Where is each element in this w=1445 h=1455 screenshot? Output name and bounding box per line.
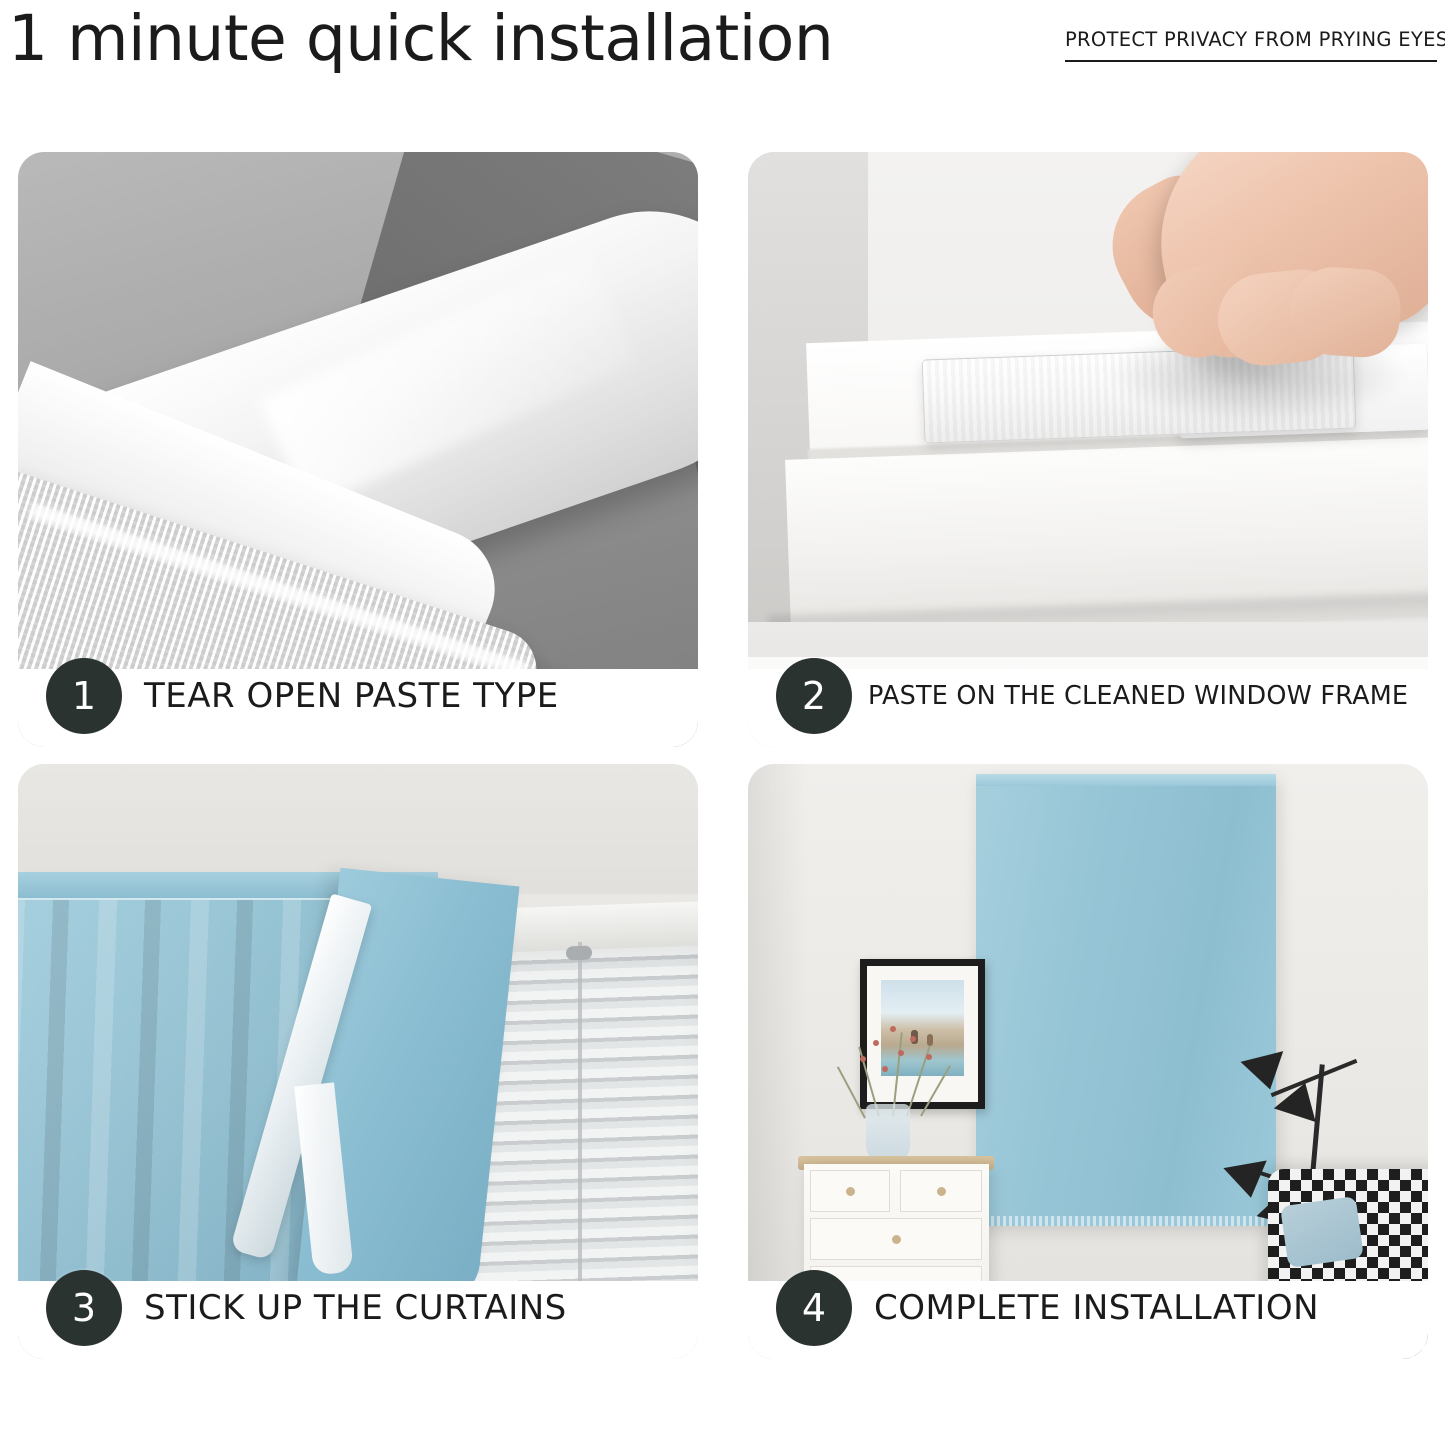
- step-card-3: 3 STICK UP THE CURTAINS: [18, 764, 698, 1359]
- steps-grid: 1 TEAR OPEN PASTE TYPE: [18, 152, 1428, 1442]
- page-title: 1 minute quick installation: [8, 2, 833, 75]
- step-2-number-badge: 2: [776, 658, 852, 734]
- step-4-caption-row: 4 COMPLETE INSTALLATION: [748, 1253, 1428, 1359]
- page-header: 1 minute quick installation PROTECT PRIV…: [0, 0, 1445, 150]
- step-1-number-badge: 1: [46, 658, 122, 734]
- glass-vase: [866, 1104, 910, 1162]
- tagline-text: PROTECT PRIVACY FROM PRYING EYES: [1065, 28, 1437, 60]
- tagline-block: PROTECT PRIVACY FROM PRYING EYES: [1065, 28, 1437, 62]
- dried-flowers: [840, 1014, 950, 1114]
- step-2-caption: PASTE ON THE CLEANED WINDOW FRAME: [868, 681, 1408, 711]
- step-4-number-badge: 4: [776, 1270, 852, 1346]
- step-1-caption-row: 1 TEAR OPEN PASTE TYPE: [18, 641, 698, 747]
- step-card-4: 4 COMPLETE INSTALLATION: [748, 764, 1428, 1359]
- step-card-1: 1 TEAR OPEN PASTE TYPE: [18, 152, 698, 747]
- step-3-caption: STICK UP THE CURTAINS: [144, 1288, 567, 1328]
- step-3-number-badge: 3: [46, 1270, 122, 1346]
- tagline-divider: [1065, 60, 1437, 62]
- step-3-caption-row: 3 STICK UP THE CURTAINS: [18, 1253, 698, 1359]
- step-1-caption: TEAR OPEN PASTE TYPE: [144, 676, 559, 716]
- installed-blue-blind: [976, 774, 1276, 1224]
- step-card-2: 2 PASTE ON THE CLEANED WINDOW FRAME: [748, 152, 1428, 747]
- step-2-caption-row: 2 PASTE ON THE CLEANED WINDOW FRAME: [748, 641, 1428, 747]
- hand-icon: [1078, 152, 1428, 412]
- step-4-caption: COMPLETE INSTALLATION: [874, 1288, 1319, 1328]
